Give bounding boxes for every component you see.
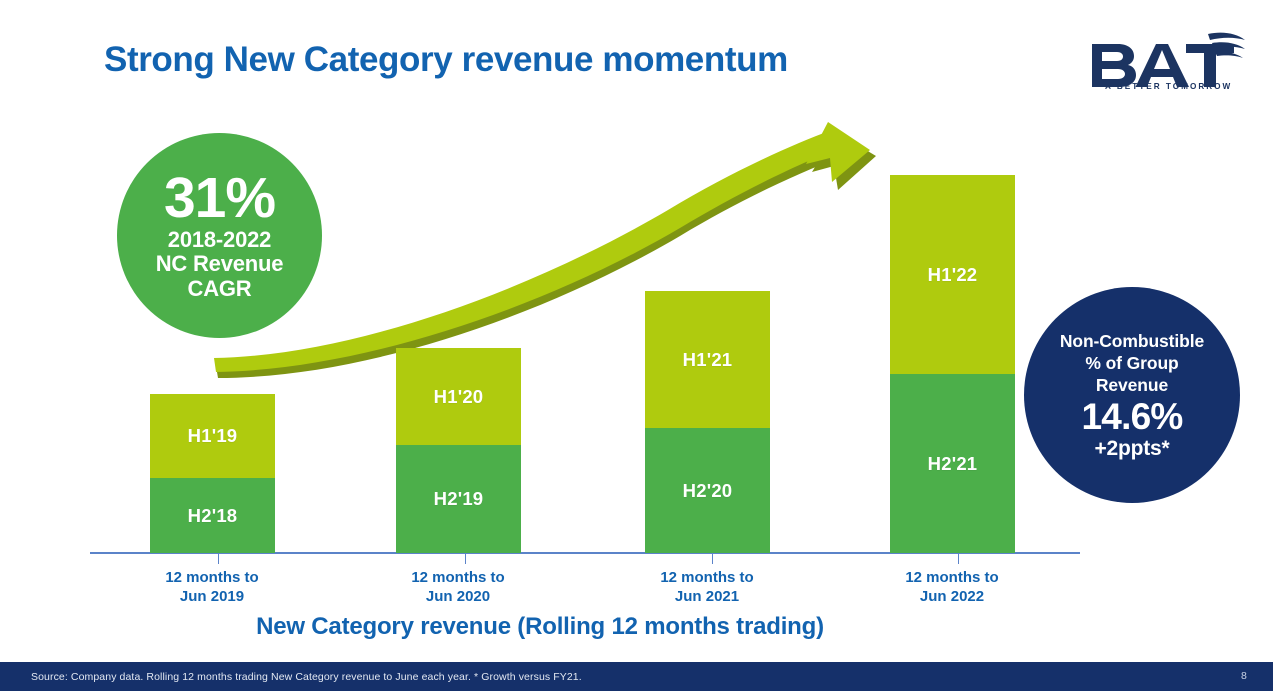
bar-stack[interactable]: H1'19 H2'18 [150,394,275,553]
footer-source-note: Source: Company data. Rolling 12 months … [31,671,582,683]
cagr-line1: 2018-2022 [168,228,271,253]
bar-segment-top[interactable]: H1'21 [645,291,770,428]
bar-segment-top[interactable]: H1'20 [396,348,521,445]
cagr-badge: 31% 2018-2022 NC Revenue CAGR [117,133,322,338]
bar-segment-top[interactable]: H1'19 [150,394,275,478]
bar-segment-label: H2'21 [928,453,978,475]
bar-segment-label: H2'19 [434,488,484,510]
bar-segment-label: H1'20 [434,386,484,408]
bar-segment-label: H1'19 [188,425,238,447]
bar-segment-bottom[interactable]: H2'19 [396,445,521,553]
bar-segment-bottom[interactable]: H2'18 [150,478,275,553]
bar-stack[interactable]: H1'22 H2'21 [890,175,1015,553]
slide-canvas: Strong New Category revenue momentum A B… [0,0,1273,691]
x-axis-title: New Category revenue (Rolling 12 months … [0,613,1080,641]
non-combustible-badge: Non-Combustible % of Group Revenue 14.6%… [1024,287,1240,503]
nc-value: 14.6% [1082,397,1183,437]
x-axis-category-label: 12 months to Jun 2020 [358,568,558,606]
bar-segment-top[interactable]: H1'22 [890,175,1015,374]
nc-line3: Revenue [1096,374,1168,396]
axis-tick [712,553,713,564]
cagr-line3: CAGR [188,277,252,302]
bar-stack[interactable]: H1'21 H2'20 [645,291,770,553]
nc-line2: % of Group [1085,352,1178,374]
bar-segment-bottom[interactable]: H2'21 [890,374,1015,553]
bar-segment-label: H2'20 [683,480,733,502]
bar-stack[interactable]: H1'20 H2'19 [396,348,521,553]
bar-segment-label: H2'18 [188,505,238,527]
axis-tick [465,553,466,564]
cagr-value: 31% [164,170,275,226]
nc-line1: Non-Combustible [1060,330,1204,352]
bar-segment-bottom[interactable]: H2'20 [645,428,770,553]
axis-tick [218,553,219,564]
x-axis-category-label: 12 months to Jun 2022 [852,568,1052,606]
bar-segment-label: H1'22 [928,264,978,286]
cagr-line2: NC Revenue [156,252,284,277]
bar-segment-label: H1'21 [683,349,733,371]
x-axis-category-label: 12 months to Jun 2019 [112,568,312,606]
axis-tick [958,553,959,564]
x-axis-category-label: 12 months to Jun 2021 [607,568,807,606]
nc-delta: +2ppts* [1094,437,1169,460]
page-number: 8 [1241,670,1247,682]
